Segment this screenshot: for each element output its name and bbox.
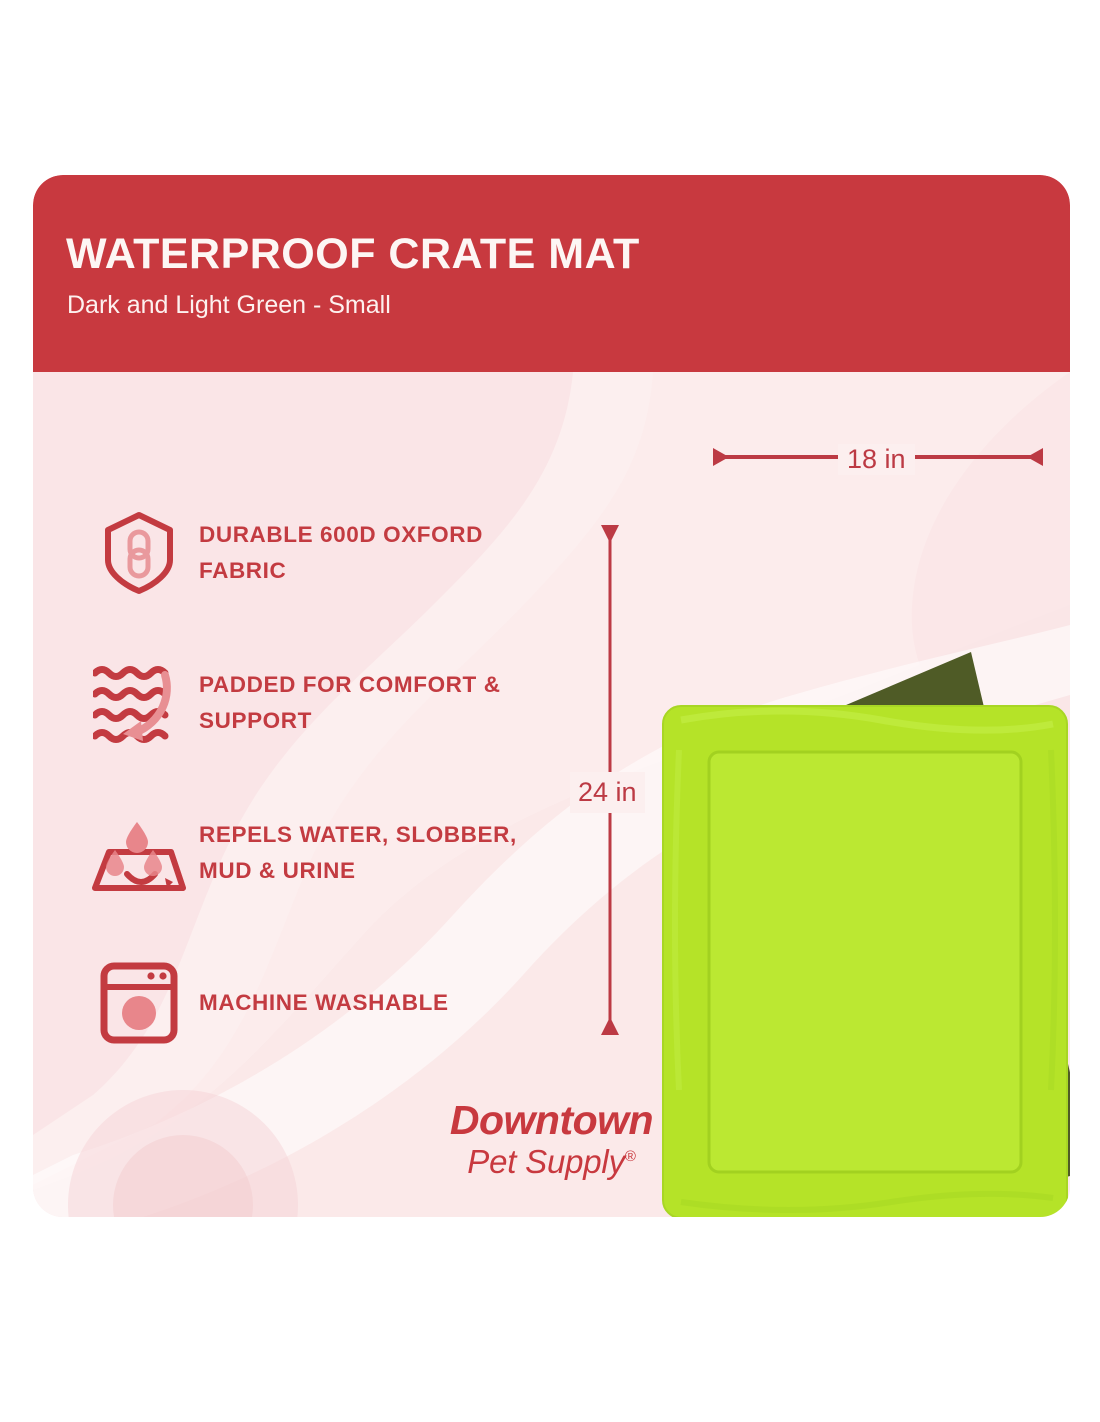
feature-list: DURABLE 600D OXFORD FABRIC PADDED FOR CO… xyxy=(91,497,611,1097)
shield-chain-icon xyxy=(91,505,187,601)
feature-label: DURABLE 600D OXFORD FABRIC xyxy=(199,517,559,590)
feature-item-machine-washable: MACHINE WASHABLE xyxy=(91,947,611,1059)
logo-line-2-text: Pet Supply xyxy=(467,1143,625,1180)
washing-machine-icon-svg xyxy=(99,961,179,1045)
wavy-padding-icon-svg xyxy=(93,663,185,743)
feature-item-padded-comfort: PADDED FOR COMFORT & SUPPORT xyxy=(91,647,611,759)
page-subtitle: Dark and Light Green - Small xyxy=(67,291,391,320)
card-header: WATERPROOF CRATE MAT Dark and Light Gree… xyxy=(33,175,1070,372)
wavy-padding-icon xyxy=(91,655,187,751)
feature-item-repels-water: REPELS WATER, SLOBBER, MUD & URINE xyxy=(91,797,611,909)
washing-machine-icon xyxy=(91,955,187,1051)
product-card: WATERPROOF CRATE MAT Dark and Light Gree… xyxy=(33,175,1070,1217)
height-dimension-label: 24 in xyxy=(570,772,645,813)
water-repel-mat-icon xyxy=(91,805,187,901)
trademark-symbol: ® xyxy=(625,1148,636,1165)
product-infographic: WATERPROOF CRATE MAT Dark and Light Gree… xyxy=(0,0,1100,1422)
feature-item-durable-fabric: DURABLE 600D OXFORD FABRIC xyxy=(91,497,611,609)
water-repel-mat-icon-svg xyxy=(91,808,187,898)
brand-logo: Downtown Pet Supply® xyxy=(33,1100,1070,1182)
page-title: WATERPROOF CRATE MAT xyxy=(66,230,640,279)
shield-chain-icon-svg xyxy=(100,510,178,596)
logo-line-2: Pet Supply® xyxy=(33,1141,1070,1182)
feature-label: MACHINE WASHABLE xyxy=(199,985,449,1021)
feature-label: PADDED FOR COMFORT & SUPPORT xyxy=(199,667,559,740)
logo-line-1: Downtown xyxy=(33,1100,1070,1141)
feature-label: REPELS WATER, SLOBBER, MUD & URINE xyxy=(199,817,559,890)
width-dimension-label: 18 in xyxy=(838,444,915,475)
